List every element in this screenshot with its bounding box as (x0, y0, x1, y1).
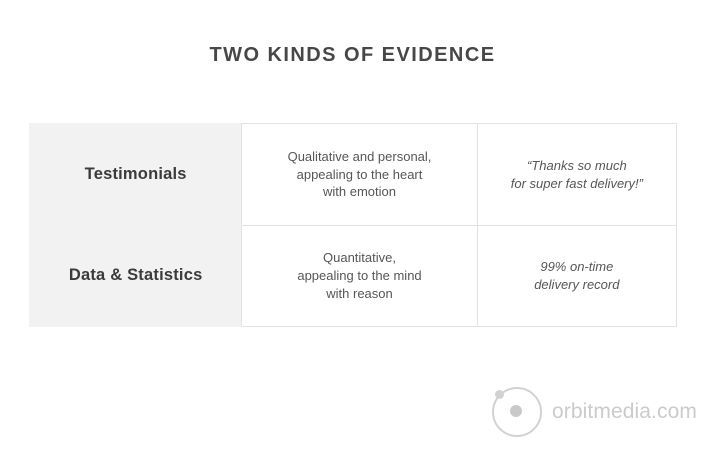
description-line: appealing to the heart (242, 166, 476, 184)
description-line: Quantitative, (242, 249, 476, 267)
orbit-ring-icon (491, 386, 543, 438)
orbit-center-dot-icon (510, 405, 522, 417)
description-line: Qualitative and personal, (242, 148, 476, 166)
table-cell-label: Data & Statistics (30, 226, 242, 327)
evidence-description: Quantitative, appealing to the mind with… (242, 249, 476, 303)
table-cell-example: “Thanks so much for super fast delivery!… (477, 124, 676, 226)
description-line: appealing to the mind (242, 267, 476, 285)
table-cell-description: Quantitative, appealing to the mind with… (242, 226, 477, 327)
evidence-type-label: Testimonials (30, 164, 241, 185)
example-line: delivery record (478, 276, 676, 294)
evidence-table: Testimonials Qualitative and personal, a… (29, 123, 677, 327)
table-cell-label: Testimonials (30, 124, 242, 226)
example-line: “Thanks so much (478, 157, 676, 175)
table-row: Data & Statistics Quantitative, appealin… (30, 226, 677, 327)
table-cell-description: Qualitative and personal, appealing to t… (242, 124, 477, 226)
brand-logo: orbitmedia.com (491, 386, 697, 438)
evidence-example: 99% on-time delivery record (478, 258, 676, 294)
table-row: Testimonials Qualitative and personal, a… (30, 124, 677, 226)
description-line: with emotion (242, 183, 476, 201)
page-title: TWO KINDS OF EVIDENCE (0, 44, 705, 67)
evidence-example: “Thanks so much for super fast delivery!… (478, 157, 676, 193)
example-line: for super fast delivery!” (478, 175, 676, 193)
evidence-description: Qualitative and personal, appealing to t… (242, 148, 476, 202)
orbit-satellite-dot-icon (495, 390, 504, 399)
evidence-type-label: Data & Statistics (30, 265, 241, 286)
example-line: 99% on-time (478, 258, 676, 276)
brand-wordmark: orbitmedia.com (552, 400, 697, 424)
description-line: with reason (242, 285, 476, 303)
table-cell-example: 99% on-time delivery record (477, 226, 676, 327)
